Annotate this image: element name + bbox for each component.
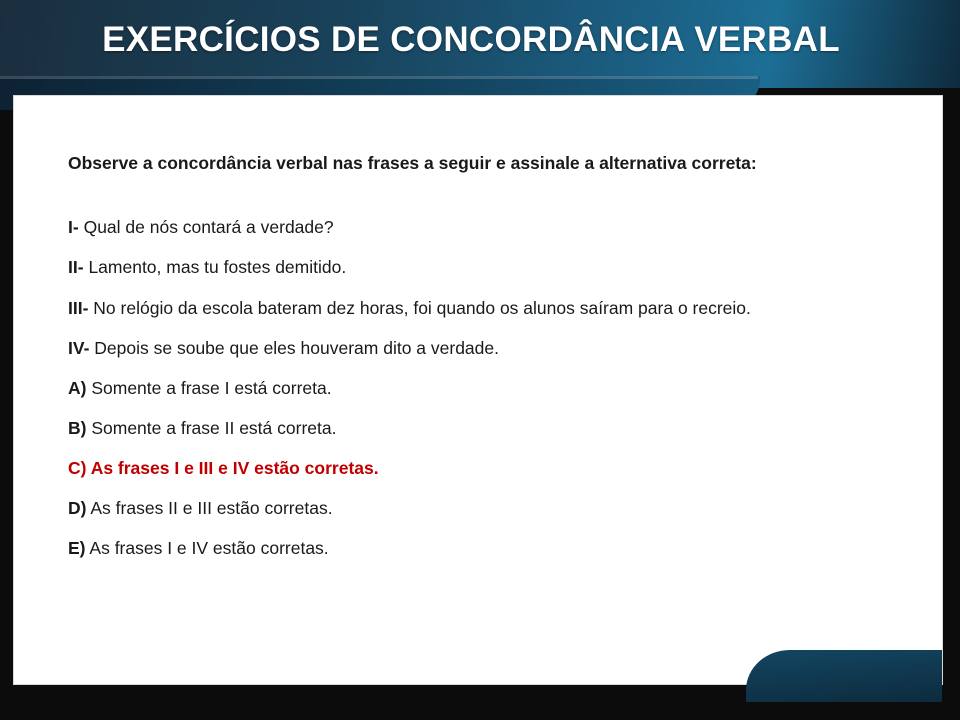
statement-4: IV- Depois se soube que eles houveram di… [68,335,896,362]
statement-4-label: IV- [68,338,89,358]
page-title: EXERCÍCIOS DE CONCORDÂNCIA VERBAL [0,20,960,60]
option-c-label: C) [68,458,86,478]
frame-left-strip [0,88,14,720]
option-c[interactable]: C) As frases I e III e IV estão corretas… [68,455,896,482]
option-d[interactable]: D) As frases II e III estão corretas. [68,495,896,522]
option-a-label: A) [68,378,86,398]
statement-2-label: II- [68,257,84,277]
option-b-text: Somente a frase II está correta. [91,418,336,438]
slide: EXERCÍCIOS DE CONCORDÂNCIA VERBAL Observ… [0,0,960,720]
statement-1-label: I- [68,217,79,237]
frame-right-column [942,88,960,720]
exercise-prompt: Observe a concordância verbal nas frases… [68,150,896,176]
option-e[interactable]: E) As frases I e IV estão corretas. [68,535,896,562]
statement-3: III- No relógio da escola bateram dez ho… [68,295,896,322]
statement-1-text: Qual de nós contará a verdade? [84,217,334,237]
option-d-label: D) [68,498,86,518]
statement-3-label: III- [68,298,88,318]
option-b[interactable]: B) Somente a frase II está correta. [68,415,896,442]
bottom-right-accent-block [746,650,942,702]
option-b-label: B) [68,418,86,438]
statement-4-text: Depois se soube que eles houveram dito a… [94,338,499,358]
exercise-content: Observe a concordância verbal nas frases… [68,150,896,575]
statement-2-text: Lamento, mas tu fostes demitido. [88,257,346,277]
statement-3-text: No relógio da escola bateram dez horas, … [93,298,751,318]
bottom-dark-curve [14,686,714,702]
option-a[interactable]: A) Somente a frase I está correta. [68,375,896,402]
title-band: EXERCÍCIOS DE CONCORDÂNCIA VERBAL [0,0,960,88]
frame-bottom-strip [0,702,960,720]
option-c-text: As frases I e III e IV estão corretas. [91,458,379,478]
option-d-text: As frases II e III estão corretas. [90,498,332,518]
statement-2: II- Lamento, mas tu fostes demitido. [68,254,896,281]
title-band-highlight-line [0,76,758,79]
option-e-label: E) [68,538,86,558]
statement-1: I- Qual de nós contará a verdade? [68,214,896,241]
option-e-text: As frases I e IV estão corretas. [89,538,328,558]
option-a-text: Somente a frase I está correta. [91,378,331,398]
